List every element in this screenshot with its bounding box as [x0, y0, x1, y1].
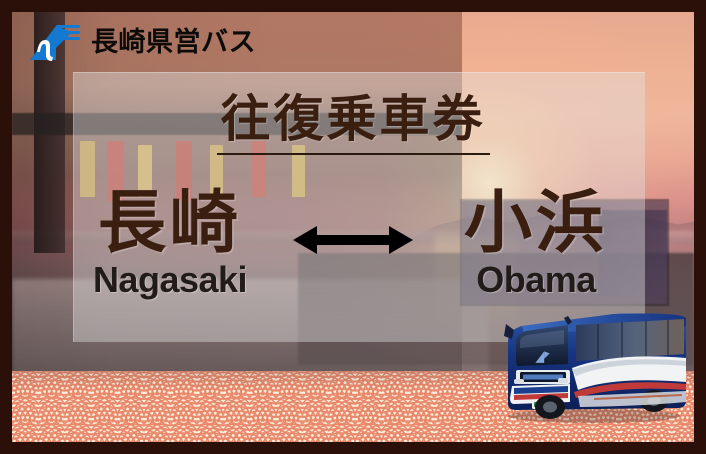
destination-name-jp: 小浜 — [421, 190, 651, 258]
ticket-title-container: 往復乗車券 — [12, 94, 694, 155]
nagasaki-kenei-bus-logo-icon — [26, 22, 82, 62]
destination-station: 小浜 Obama — [421, 190, 651, 298]
origin-name-jp: 長崎 — [55, 190, 285, 258]
origin-station: 長崎 Nagasaki — [55, 190, 285, 298]
round-trip-ticket-card: 長崎県営バス 往復乗車券 長崎 Nagasaki 小浜 Obama — [0, 0, 706, 454]
origin-name-en: Nagasaki — [55, 262, 285, 298]
brand-header: 長崎県営バス — [26, 22, 256, 62]
ticket-photo-area: 長崎県営バス 往復乗車券 長崎 Nagasaki 小浜 Obama — [12, 12, 694, 442]
highway-bus-photo — [494, 308, 690, 424]
brand-name-label: 長崎県営バス — [91, 29, 256, 56]
route-row: 長崎 Nagasaki 小浜 Obama — [12, 190, 694, 298]
double-headed-arrow-icon — [285, 190, 421, 290]
destination-name-en: Obama — [421, 262, 651, 298]
ticket-title: 往復乗車券 — [217, 94, 490, 155]
